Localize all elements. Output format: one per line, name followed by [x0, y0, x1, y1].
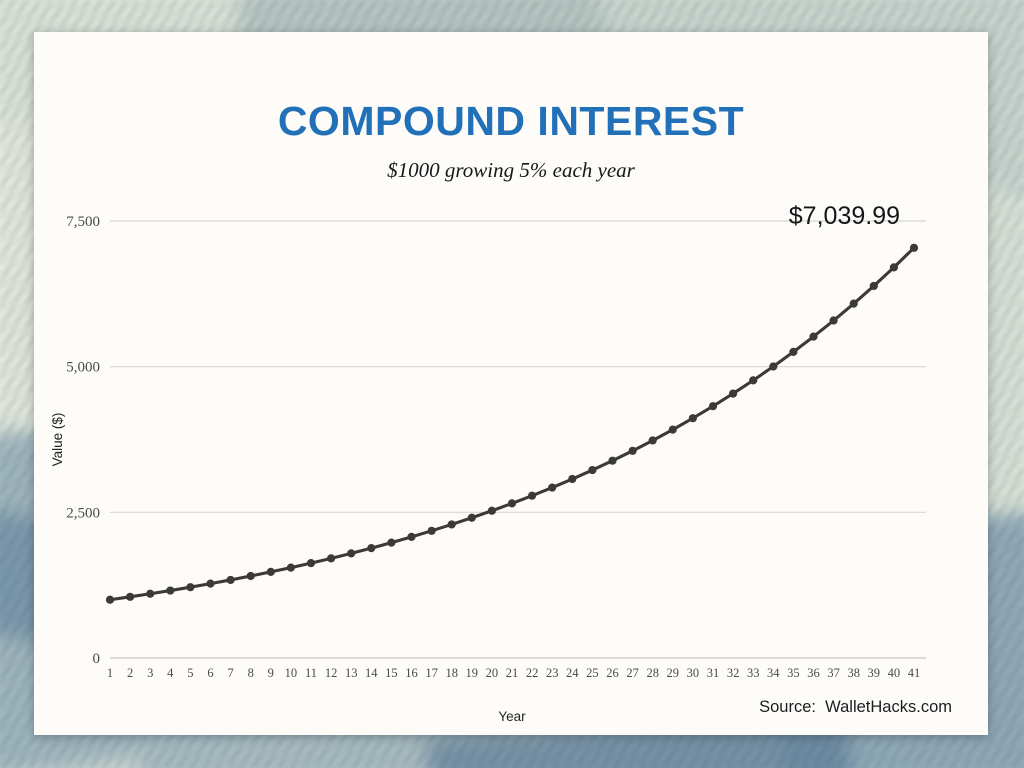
plot-area: 02,5005,0007,500 12345678910111213141516… [34, 32, 988, 735]
svg-text:27: 27 [626, 666, 639, 680]
svg-text:32: 32 [727, 666, 740, 680]
svg-text:19: 19 [466, 666, 479, 680]
x-axis-title: Year [498, 709, 526, 724]
svg-text:5: 5 [187, 666, 193, 680]
svg-text:39: 39 [868, 666, 881, 680]
svg-text:24: 24 [566, 666, 579, 680]
x-axis-tick-labels: 1234567891011121314151617181920212223242… [107, 666, 920, 680]
svg-text:38: 38 [847, 666, 860, 680]
svg-text:23: 23 [546, 666, 559, 680]
svg-text:28: 28 [646, 666, 659, 680]
svg-text:33: 33 [747, 666, 760, 680]
source-note: Source: WalletHacks.com [759, 698, 952, 717]
series-line-value [110, 248, 914, 600]
svg-text:22: 22 [526, 666, 539, 680]
svg-text:2,500: 2,500 [66, 505, 100, 521]
data-label-final-value: $7,039.99 [789, 202, 900, 230]
svg-text:36: 36 [807, 666, 820, 680]
svg-text:30: 30 [687, 666, 700, 680]
svg-text:31: 31 [707, 666, 720, 680]
chart-card: Compound Interest $1000 growing 5% each … [34, 32, 988, 735]
svg-text:1: 1 [107, 666, 113, 680]
y-axis-tick-labels: 02,5005,0007,500 [66, 214, 100, 667]
svg-text:9: 9 [268, 666, 274, 680]
svg-text:11: 11 [305, 666, 317, 680]
svg-text:7: 7 [227, 666, 233, 680]
svg-text:8: 8 [248, 666, 254, 680]
svg-text:16: 16 [405, 666, 418, 680]
y-axis-title: Value ($) [50, 413, 65, 467]
svg-text:6: 6 [207, 666, 213, 680]
svg-text:0: 0 [93, 651, 101, 667]
svg-text:29: 29 [667, 666, 680, 680]
svg-text:10: 10 [285, 666, 298, 680]
svg-text:3: 3 [147, 666, 153, 680]
gridlines [110, 221, 926, 512]
svg-text:41: 41 [908, 666, 921, 680]
svg-text:25: 25 [586, 666, 599, 680]
svg-text:18: 18 [445, 666, 458, 680]
svg-text:7,500: 7,500 [66, 214, 100, 230]
svg-text:2: 2 [127, 666, 133, 680]
svg-text:34: 34 [767, 666, 780, 680]
svg-text:13: 13 [345, 666, 358, 680]
svg-text:21: 21 [506, 666, 519, 680]
svg-text:37: 37 [827, 666, 840, 680]
svg-text:20: 20 [486, 666, 499, 680]
svg-text:14: 14 [365, 666, 378, 680]
svg-text:5,000: 5,000 [66, 360, 100, 376]
svg-text:26: 26 [606, 666, 619, 680]
svg-text:12: 12 [325, 666, 338, 680]
line-chart: 02,5005,0007,500 12345678910111213141516… [34, 32, 988, 735]
svg-text:40: 40 [888, 666, 901, 680]
svg-text:15: 15 [385, 666, 398, 680]
svg-text:4: 4 [167, 666, 174, 680]
svg-text:17: 17 [425, 666, 438, 680]
svg-text:35: 35 [787, 666, 800, 680]
series-markers [106, 244, 918, 604]
